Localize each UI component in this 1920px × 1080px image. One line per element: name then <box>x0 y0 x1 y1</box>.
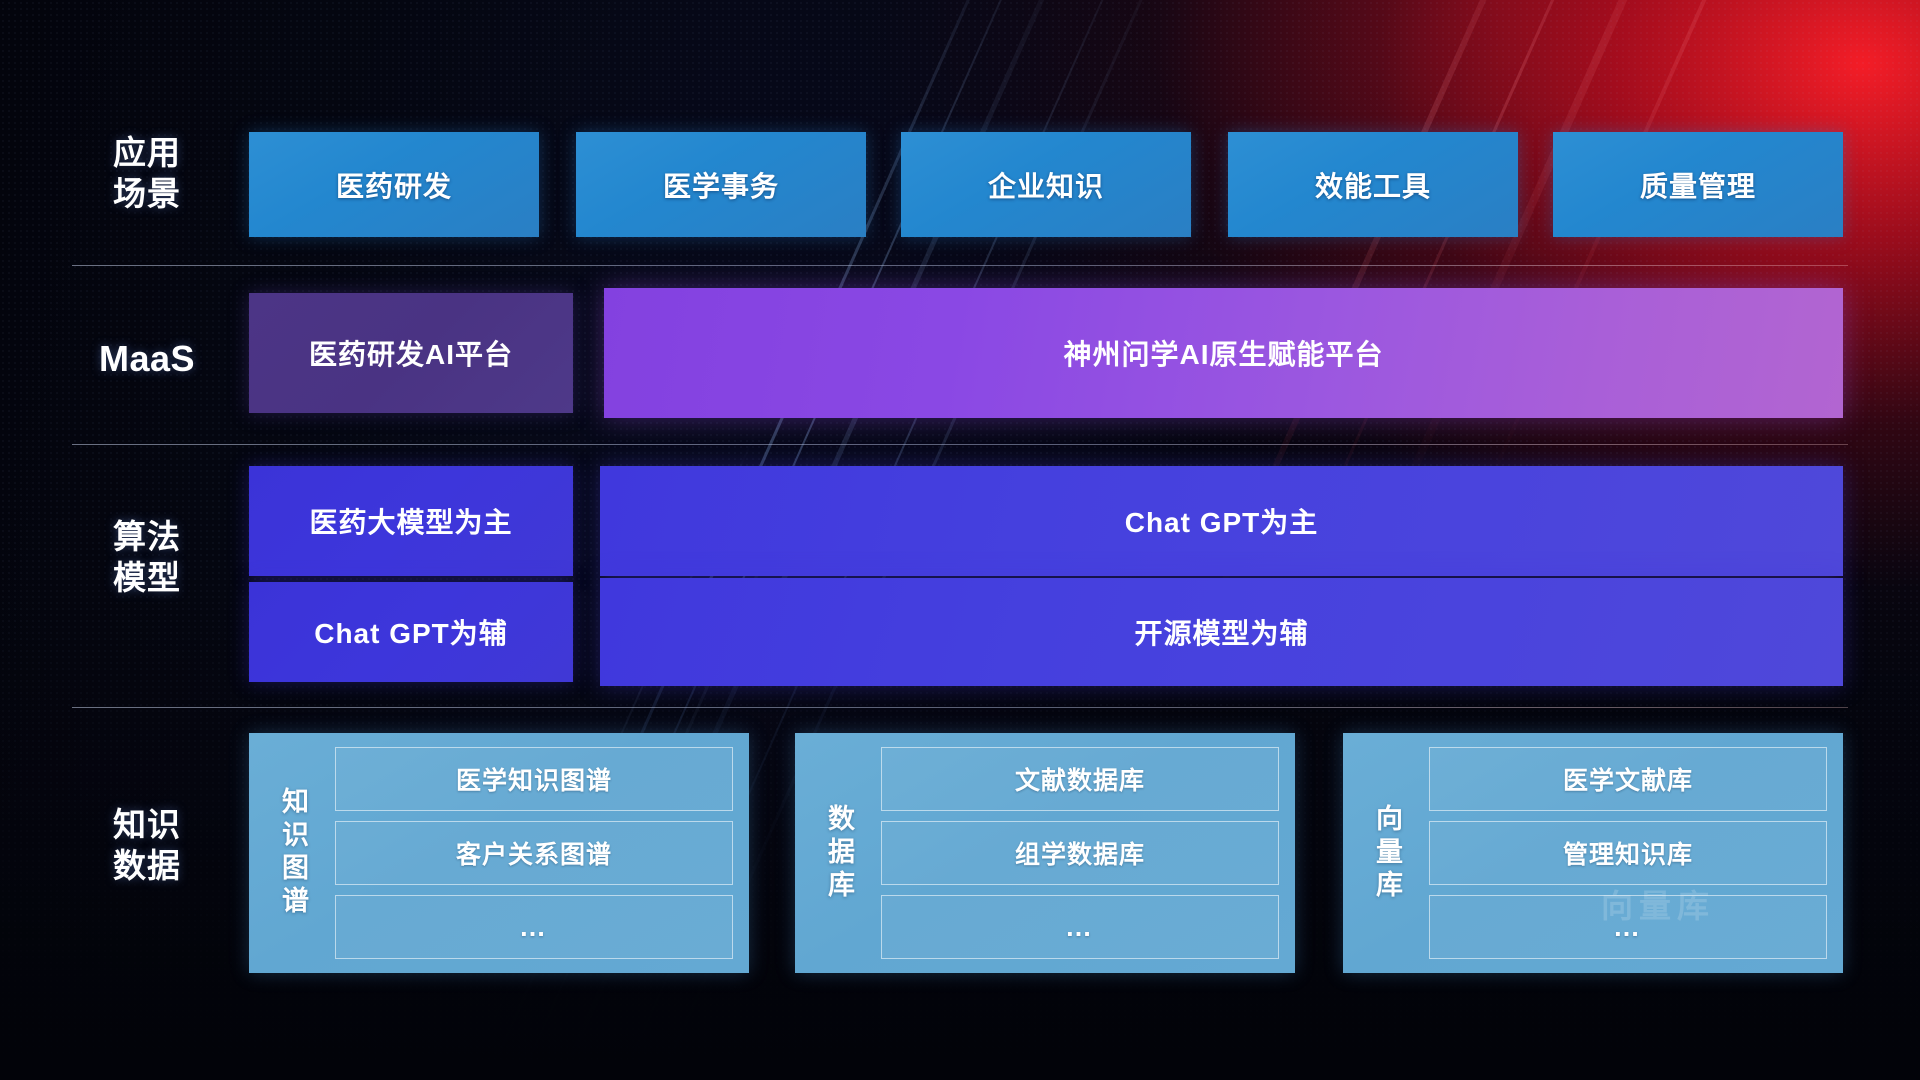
maas-right-bar[interactable]: 神州问学AI原生赋能平台 <box>604 288 1843 418</box>
algo-row1-right-label: Chat GPT为主 <box>1125 501 1319 541</box>
knowledge-panel-title: 向量库 <box>1357 747 1417 959</box>
row-label-line-2: 数据 <box>72 845 222 886</box>
knowledge-item[interactable]: 管理知识库 <box>1429 821 1827 885</box>
row-label-algorithm-model: 算法 模型 <box>72 516 222 598</box>
app-card-3[interactable]: 企业知识 <box>901 132 1191 237</box>
diagram-content: 应用 场景 医药研发 医学事务 企业知识 效能工具 质量管理 MaaS 医药研发… <box>0 0 1920 1080</box>
knowledge-panel-item-list: 医学知识图谱 客户关系图谱 … <box>323 747 733 959</box>
row-label-line-1: 应用 <box>72 132 222 173</box>
row-label-knowledge-data: 知识 数据 <box>72 804 222 886</box>
knowledge-item-more[interactable]: … <box>1429 895 1827 959</box>
knowledge-item[interactable]: 文献数据库 <box>881 747 1279 811</box>
knowledge-item-more[interactable]: … <box>881 895 1279 959</box>
slide-canvas: 应用 场景 医药研发 医学事务 企业知识 效能工具 质量管理 MaaS 医药研发… <box>0 0 1920 1080</box>
algo-row2-right-label: 开源模型为辅 <box>1134 612 1308 652</box>
row-label-line-2: 场景 <box>72 173 222 214</box>
knowledge-panel-item-list: 文献数据库 组学数据库 … <box>869 747 1279 959</box>
algo-row2-left-box[interactable]: Chat GPT为辅 <box>249 582 573 682</box>
row-label-text: MaaS <box>72 338 222 379</box>
knowledge-panel-title: 数据库 <box>809 747 869 959</box>
knowledge-panel-vector-store[interactable]: 向量库 医学文献库 管理知识库 … 向量库 <box>1343 733 1843 973</box>
app-card-label: 效能工具 <box>1315 165 1431 205</box>
knowledge-item[interactable]: 组学数据库 <box>881 821 1279 885</box>
app-card-label: 医药研发 <box>336 165 452 205</box>
maas-left-label: 医药研发AI平台 <box>309 333 513 373</box>
knowledge-panel-title: 知识图谱 <box>263 747 323 959</box>
row-label-maas: MaaS <box>72 338 222 379</box>
algo-row1-left-label: 医药大模型为主 <box>309 501 512 541</box>
app-card-5[interactable]: 质量管理 <box>1553 132 1843 237</box>
row-label-line-1: 知识 <box>72 804 222 845</box>
app-card-4[interactable]: 效能工具 <box>1228 132 1518 237</box>
row-separator-3 <box>72 707 1848 708</box>
row-separator-2 <box>72 444 1848 445</box>
algo-row2-right-bar[interactable]: 开源模型为辅 <box>600 578 1843 686</box>
algo-row1-left-box[interactable]: 医药大模型为主 <box>249 466 573 576</box>
knowledge-panel-database[interactable]: 数据库 文献数据库 组学数据库 … <box>795 733 1295 973</box>
knowledge-panel-item-list: 医学文献库 管理知识库 … <box>1417 747 1827 959</box>
knowledge-item-more[interactable]: … <box>335 895 733 959</box>
knowledge-item[interactable]: 医学文献库 <box>1429 747 1827 811</box>
knowledge-item[interactable]: 客户关系图谱 <box>335 821 733 885</box>
row-label-line-2: 模型 <box>72 557 222 598</box>
app-card-label: 质量管理 <box>1640 165 1756 205</box>
algo-row1-right-bar[interactable]: Chat GPT为主 <box>600 466 1843 576</box>
app-card-2[interactable]: 医学事务 <box>576 132 866 237</box>
app-card-1[interactable]: 医药研发 <box>249 132 539 237</box>
row-label-line-1: 算法 <box>72 516 222 557</box>
knowledge-panel-knowledge-graph[interactable]: 知识图谱 医学知识图谱 客户关系图谱 … <box>249 733 749 973</box>
algo-row2-left-label: Chat GPT为辅 <box>314 612 508 652</box>
row-separator-1 <box>72 265 1848 266</box>
app-card-label: 医学事务 <box>663 165 779 205</box>
maas-right-label: 神州问学AI原生赋能平台 <box>1063 333 1383 373</box>
maas-left-box[interactable]: 医药研发AI平台 <box>249 293 573 413</box>
knowledge-item[interactable]: 医学知识图谱 <box>335 747 733 811</box>
app-card-label: 企业知识 <box>988 165 1104 205</box>
row-label-application-scenario: 应用 场景 <box>72 132 222 214</box>
